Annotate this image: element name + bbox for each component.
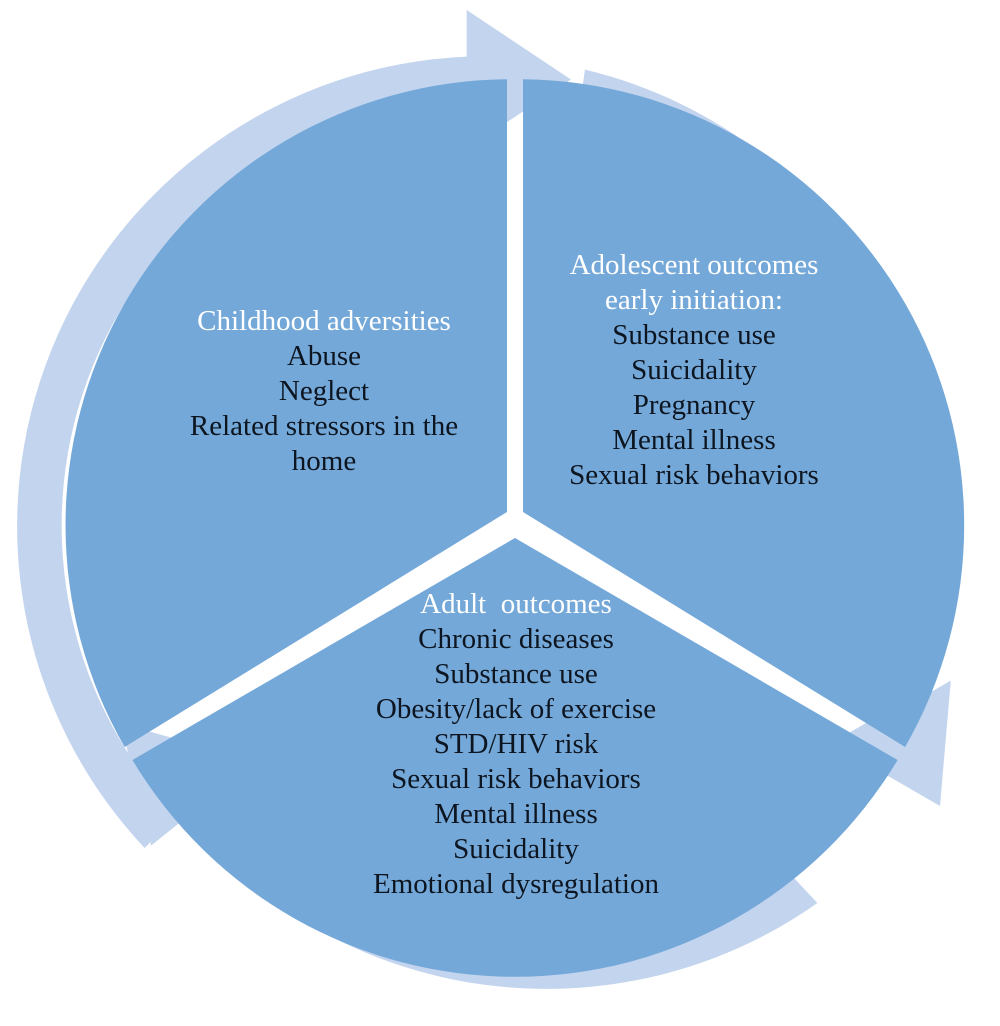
segment-subtitle-adolescent: early initiation: (521, 283, 867, 318)
segment-item-adolescent-0: Substance use (521, 318, 867, 353)
segment-item-adult-3: STD/HIV risk (300, 727, 732, 762)
segment-item-adult-0: Chronic diseases (300, 622, 732, 657)
segment-item-adult-1: Substance use (300, 657, 732, 692)
segment-text-adult: Adult outcomes Chronic diseases Substanc… (300, 587, 732, 902)
segment-item-adolescent-4: Sexual risk behaviors (521, 458, 867, 493)
segment-item-childhood-0: Abuse (124, 339, 524, 374)
segment-item-adult-2: Obesity/lack of exercise (300, 692, 732, 727)
segment-title-adolescent: Adolescent outcomes (521, 248, 867, 283)
segment-title-childhood: Childhood adversities (124, 304, 524, 339)
segment-item-childhood-3: home (124, 444, 524, 479)
segment-item-adult-5: Mental illness (300, 797, 732, 832)
segment-title-adult: Adult outcomes (300, 587, 732, 622)
segment-item-childhood-2: Related stressors in the (124, 409, 524, 444)
segment-item-adult-7: Emotional dysregulation (300, 867, 732, 902)
segment-item-adolescent-3: Mental illness (521, 423, 867, 458)
segment-text-childhood: Childhood adversities Abuse Neglect Rela… (124, 304, 524, 479)
segment-text-adolescent: Adolescent outcomes early initiation: Su… (521, 248, 867, 493)
segment-item-adult-6: Suicidality (300, 832, 732, 867)
segment-item-adolescent-2: Pregnancy (521, 388, 867, 423)
segment-item-adolescent-1: Suicidality (521, 353, 867, 388)
cycle-diagram: Childhood adversities Abuse Neglect Rela… (0, 0, 1000, 1026)
segment-item-childhood-1: Neglect (124, 374, 524, 409)
segment-item-adult-4: Sexual risk behaviors (300, 762, 732, 797)
